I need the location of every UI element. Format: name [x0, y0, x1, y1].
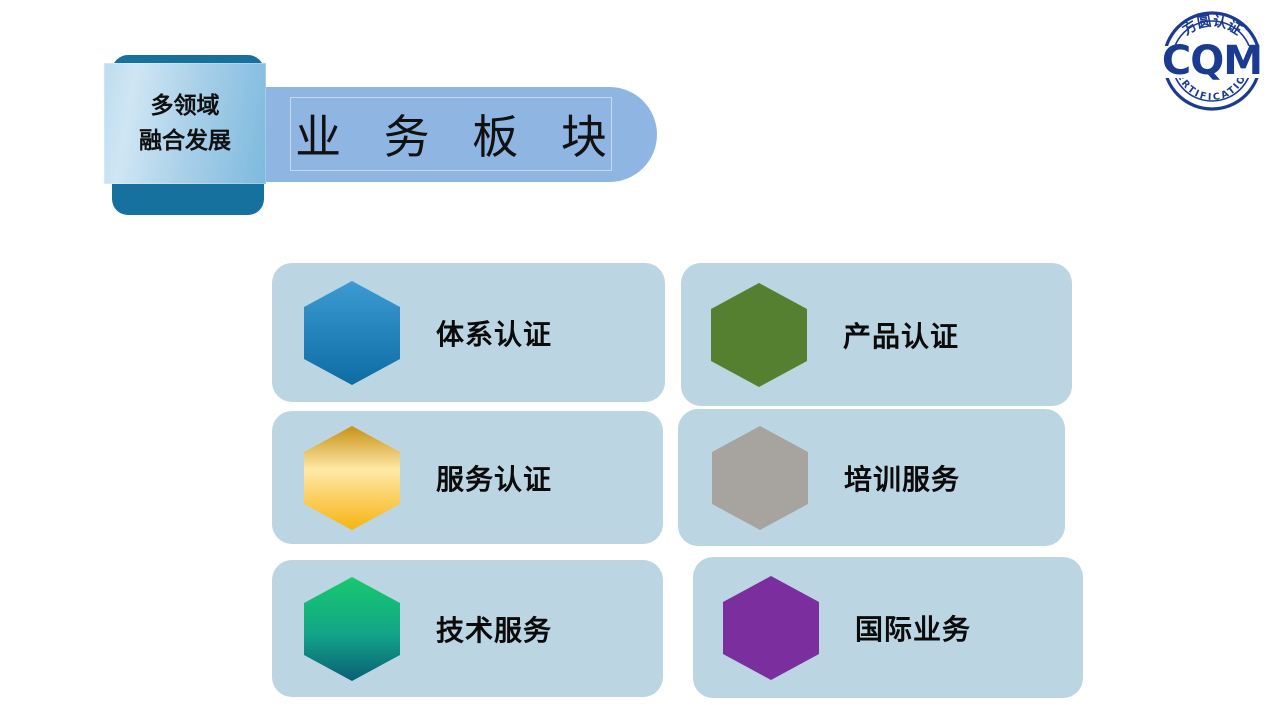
- segment-card[interactable]: 培训服务: [678, 409, 1065, 546]
- segment-label: 技术服务: [436, 609, 552, 649]
- segment-card[interactable]: 体系认证: [272, 263, 665, 402]
- segment-card[interactable]: 国际业务: [693, 557, 1083, 698]
- segment-card[interactable]: 技术服务: [272, 560, 663, 697]
- slide-canvas: 方圆认证 CERTIFICATION CQM 业 务 板 块 多领域 融合发展: [0, 0, 1280, 720]
- hexagon-icon: [712, 426, 808, 530]
- hexagon-icon: [304, 577, 400, 681]
- segment-label: 国际业务: [855, 608, 971, 648]
- segment-label: 服务认证: [436, 458, 552, 498]
- segment-label: 体系认证: [436, 313, 552, 353]
- segment-card[interactable]: 服务认证: [272, 411, 663, 544]
- hexagon-icon: [711, 283, 807, 387]
- hexagon-icon: [304, 281, 400, 385]
- hexagon-icon: [723, 576, 819, 680]
- segment-label: 产品认证: [843, 315, 959, 355]
- segment-label: 培训服务: [844, 458, 960, 498]
- business-segments-grid: 体系认证 产品认证 服务认证: [0, 0, 1280, 720]
- hexagon-icon: [304, 426, 400, 530]
- segment-card[interactable]: 产品认证: [681, 263, 1072, 406]
